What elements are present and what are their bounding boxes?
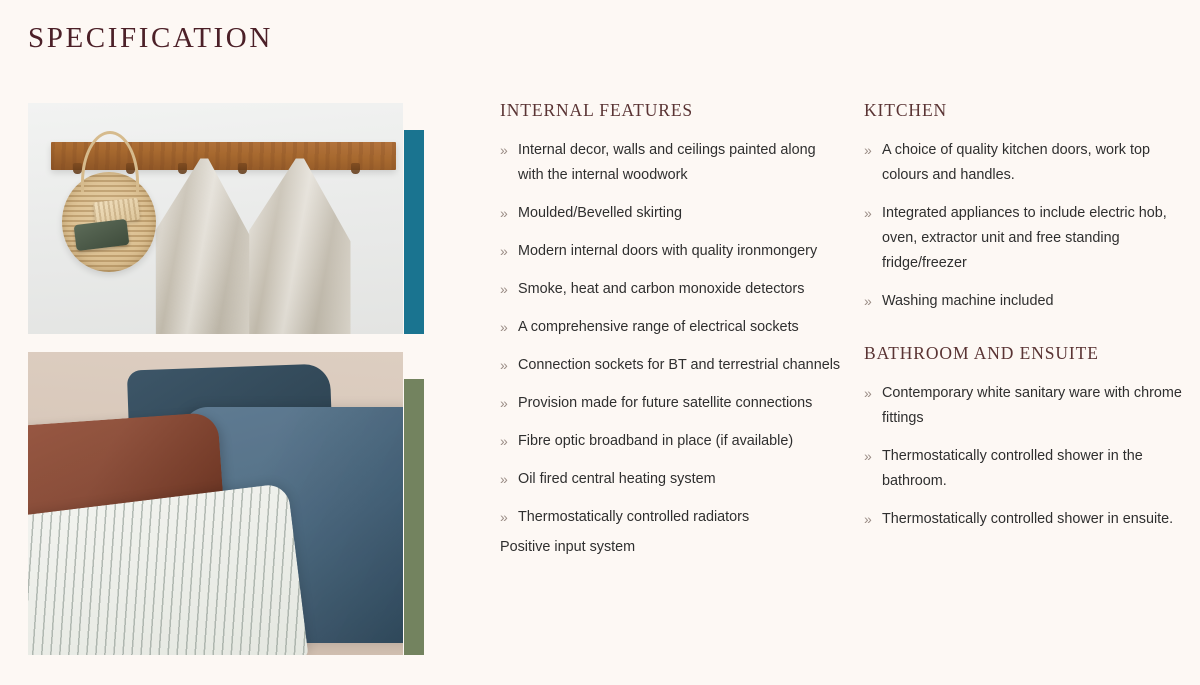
spec-list-item: » Moulded/Bevelled skirting [500,201,845,226]
chevron-double-right-icon: » [500,467,518,492]
spec-list-item: » Internal decor, walls and ceilings pai… [500,138,845,188]
spec-item-text: Oil fired central heating system [518,467,845,492]
spec-item-text: Thermostatically controlled shower in en… [882,507,1194,532]
spec-item-text: Thermostatically controlled radiators [518,505,845,530]
column-kitchen-bathroom: KITCHEN » A choice of quality kitchen do… [864,100,1194,532]
photo-scene-pegwall [28,103,403,334]
chevron-double-right-icon: » [500,429,518,454]
spec-list-item: » Thermostatically controlled shower in … [864,507,1194,532]
chevron-double-right-icon: » [500,239,518,264]
spec-list-internal-features: » Internal decor, walls and ceilings pai… [500,138,845,530]
chevron-double-right-icon: » [500,315,518,340]
photo-scene-cushions [28,352,403,655]
chevron-double-right-icon: » [500,353,518,378]
cushions-photo [28,352,403,655]
spec-list-item: » A comprehensive range of electrical so… [500,315,845,340]
peg-icon [351,163,360,174]
bathroom-towels-photo [28,103,403,334]
hanging-towel [249,158,350,334]
page-title: SPECIFICATION [28,22,273,55]
spec-list-item: » Thermostatically controlled shower in … [864,444,1194,494]
spec-item-text: Internal decor, walls and ceilings paint… [518,138,845,188]
chevron-double-right-icon: » [500,391,518,416]
spec-list-item: » Contemporary white sanitary ware with … [864,381,1194,431]
spec-item-text: Moulded/Bevelled skirting [518,201,845,226]
spec-list-item: » Oil fired central heating system [500,467,845,492]
soap-bar [73,219,128,251]
spec-item-text: Provision made for future satellite conn… [518,391,845,416]
spec-list-item: » Provision made for future satellite co… [500,391,845,416]
spec-list-item: » Smoke, heat and carbon monoxide detect… [500,277,845,302]
spec-item-text: Thermostatically controlled shower in th… [882,444,1194,494]
peg-icon [178,163,187,174]
spec-list-item: » Washing machine included [864,289,1194,314]
spec-list-item: » Connection sockets for BT and terrestr… [500,353,845,378]
spec-list-item: » A choice of quality kitchen doors, wor… [864,138,1194,188]
chevron-double-right-icon: » [864,138,882,163]
accent-bar-teal [404,130,424,334]
chevron-double-right-icon: » [500,201,518,226]
spec-list-item: » Modern internal doors with quality iro… [500,239,845,264]
spec-list-kitchen: » A choice of quality kitchen doors, wor… [864,138,1194,314]
spec-item-text: Washing machine included [882,289,1194,314]
section-internal-features: INTERNAL FEATURES » Internal decor, wall… [500,100,845,560]
spec-item-unbulleted: Positive input system [500,535,845,560]
spec-item-text: Smoke, heat and carbon monoxide detector… [518,277,845,302]
spec-list-item: » Fibre optic broadband in place (if ava… [500,429,845,454]
spec-item-text: A choice of quality kitchen doors, work … [882,138,1194,188]
chevron-double-right-icon: » [864,289,882,314]
spec-item-text: Fibre optic broadband in place (if avail… [518,429,845,454]
chevron-double-right-icon: » [864,444,882,469]
peg-icon [238,163,247,174]
hanging-towel [156,158,254,334]
chevron-double-right-icon: » [864,381,882,406]
accent-bar-green [404,379,424,655]
spec-item-text: Modern internal doors with quality ironm… [518,239,845,264]
spec-list-bathroom-ensuite: » Contemporary white sanitary ware with … [864,381,1194,532]
cushion-striped [28,483,308,655]
spec-list-item: » Integrated appliances to include elect… [864,201,1194,276]
media-column [28,103,424,655]
chevron-double-right-icon: » [500,138,518,163]
section-heading-kitchen: KITCHEN [864,100,1194,121]
column-internal-features: INTERNAL FEATURES » Internal decor, wall… [500,100,845,560]
spec-item-text: Integrated appliances to include electri… [882,201,1194,276]
media-block-towels [28,103,424,334]
woven-basket [62,172,156,271]
spec-list-item: » Thermostatically controlled radiators [500,505,845,530]
spec-item-text: Connection sockets for BT and terrestria… [518,353,845,378]
spec-item-text: Contemporary white sanitary ware with ch… [882,381,1194,431]
chevron-double-right-icon: » [864,201,882,226]
chevron-double-right-icon: » [500,505,518,530]
chevron-double-right-icon: » [864,507,882,532]
basket-handle [81,131,139,193]
section-bathroom-ensuite: BATHROOM AND ENSUITE » Contemporary whit… [864,343,1194,532]
chevron-double-right-icon: » [500,277,518,302]
spec-item-text: A comprehensive range of electrical sock… [518,315,845,340]
section-heading-internal-features: INTERNAL FEATURES [500,100,845,121]
section-heading-bathroom-ensuite: BATHROOM AND ENSUITE [864,343,1194,364]
section-kitchen: KITCHEN » A choice of quality kitchen do… [864,100,1194,314]
media-block-cushions [28,352,424,655]
